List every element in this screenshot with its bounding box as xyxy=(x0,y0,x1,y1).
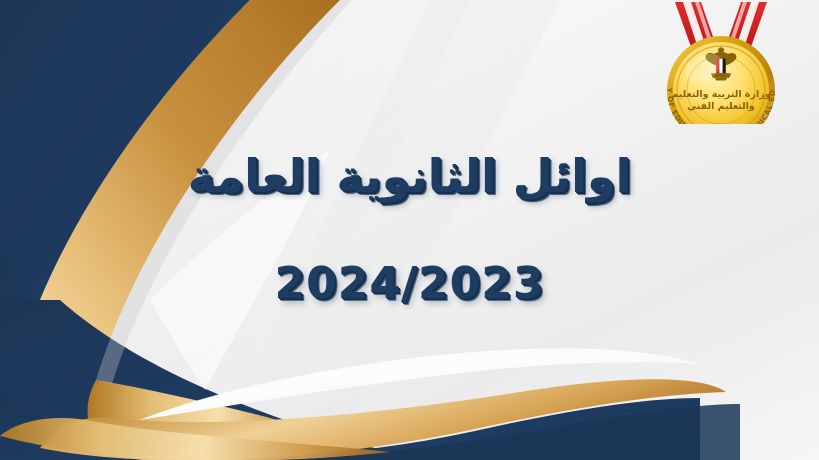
medal-arabic-line1: وزارة التربية والتعليم xyxy=(671,89,770,100)
ministry-medal-icon: MINISTRY OF EDUCATION AND TECHNICAL EDUC… xyxy=(645,2,797,124)
poster-canvas: MINISTRY OF EDUCATION AND TECHNICAL EDUC… xyxy=(0,0,819,460)
medal-arabic-line2: والتعليم الفني xyxy=(687,101,755,112)
ministry-logo: MINISTRY OF EDUCATION AND TECHNICAL EDUC… xyxy=(645,2,797,124)
